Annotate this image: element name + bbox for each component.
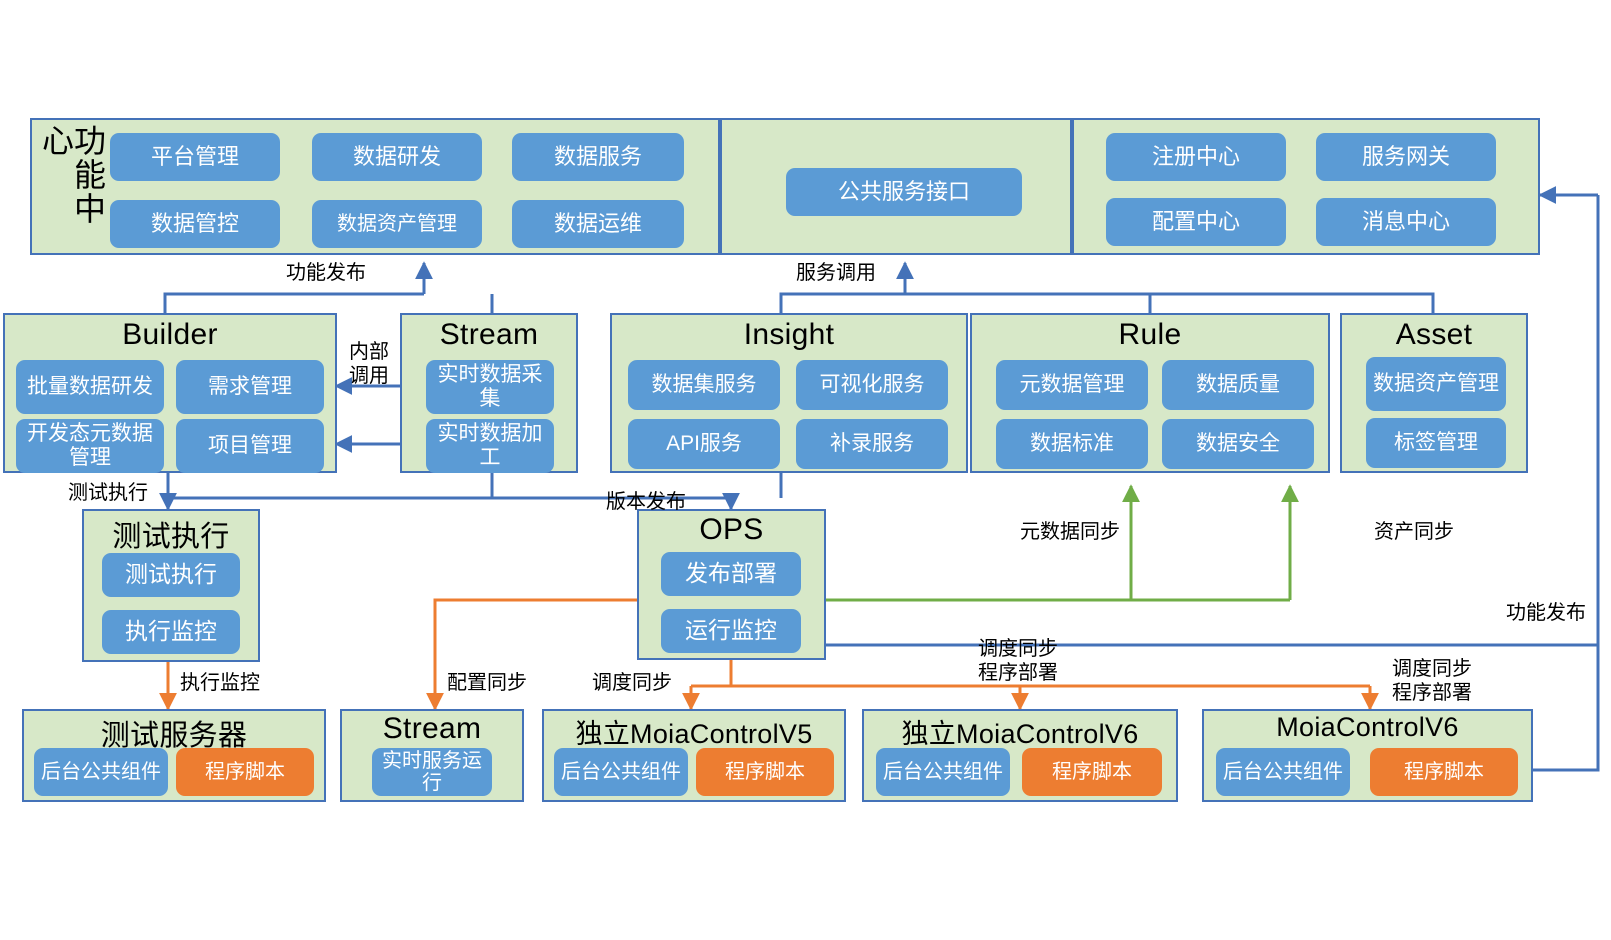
chip-data-security[interactable]: 数据安全 xyxy=(1162,419,1314,469)
panel-asset-title: Asset xyxy=(1340,318,1528,352)
chip-data-development[interactable]: 数据研发 xyxy=(312,133,482,181)
chip-test-server-program-script[interactable]: 程序脚本 xyxy=(176,748,314,796)
chip-supplement-service[interactable]: 补录服务 xyxy=(796,419,948,469)
chip-v6s-backend-components[interactable]: 后台公共组件 xyxy=(876,748,1010,796)
edge-label-version-publish: 版本发布 xyxy=(606,491,686,515)
chip-api-service[interactable]: API服务 xyxy=(628,419,780,469)
chip-data-service[interactable]: 数据服务 xyxy=(512,133,684,181)
chip-execution-monitoring[interactable]: 执行监控 xyxy=(102,610,240,654)
chip-v6s-program-script[interactable]: 程序脚本 xyxy=(1022,748,1162,796)
chip-batch-data-development[interactable]: 批量数据研发 xyxy=(16,360,164,414)
chip-project-management[interactable]: 项目管理 xyxy=(176,419,324,473)
chip-data-quality[interactable]: 数据质量 xyxy=(1162,360,1314,410)
edge-label-feature-publish-right: 功能发布 xyxy=(1400,602,1586,626)
chip-v5-program-script[interactable]: 程序脚本 xyxy=(696,748,834,796)
panel-insight-title: Insight xyxy=(610,318,968,352)
chip-data-standard[interactable]: 数据标准 xyxy=(996,419,1148,469)
chip-config-center[interactable]: 配置中心 xyxy=(1106,198,1286,246)
edge-label-feature-publish-top: 功能发布 xyxy=(286,262,366,286)
edge-label-exec-monitor: 执行监控 xyxy=(180,672,260,696)
panel-test-execution-title: 测试执行 xyxy=(82,513,260,555)
panel-ops-title: OPS xyxy=(637,513,826,547)
panel-standalone-moiacontrolv6-title: 独立MoiaControlV6 xyxy=(862,712,1178,751)
edge-label-asset-sync: 资产同步 xyxy=(1374,521,1454,545)
chip-message-center[interactable]: 消息中心 xyxy=(1316,198,1496,246)
chip-tag-management[interactable]: 标签管理 xyxy=(1366,418,1506,468)
edge-label-config-sync: 配置同步 xyxy=(447,672,527,696)
edge-label-schedule-sync-deploy-1: 调度同步 程序部署 xyxy=(938,638,1098,685)
chip-dataset-service[interactable]: 数据集服务 xyxy=(628,360,780,410)
panel-standalone-moiacontrolv5-title: 独立MoiaControlV5 xyxy=(542,712,846,751)
chip-dev-metadata-management[interactable]: 开发态元数据管理 xyxy=(16,419,164,473)
chip-metadata-management[interactable]: 元数据管理 xyxy=(996,360,1148,410)
chip-data-operations[interactable]: 数据运维 xyxy=(512,200,684,248)
chip-realtime-data-collection[interactable]: 实时数据采集 xyxy=(426,360,554,414)
chip-platform-management[interactable]: 平台管理 xyxy=(110,133,280,181)
edge-label-schedule-sync-deploy-2: 调度同步 程序部署 xyxy=(1352,658,1512,705)
chip-test-server-backend-components[interactable]: 后台公共组件 xyxy=(34,748,168,796)
function-center-side-label: 功能中心 xyxy=(40,124,104,250)
chip-realtime-service-running[interactable]: 实时服务运行 xyxy=(372,748,492,796)
edge-label-test-execution: 测试执行 xyxy=(68,482,148,506)
chip-test-execution[interactable]: 测试执行 xyxy=(102,553,240,597)
panel-rule-title: Rule xyxy=(970,318,1330,352)
chip-runtime-monitoring[interactable]: 运行监控 xyxy=(661,609,801,653)
chip-release-deploy[interactable]: 发布部署 xyxy=(661,552,801,596)
panel-moiacontrolv6-title: MoiaControlV6 xyxy=(1202,712,1533,743)
architecture-diagram-canvas: 功能中心 平台管理 数据研发 数据服务 数据管控 数据资产管理 数据运维 公共服… xyxy=(0,0,1611,940)
panel-stream-runtime-title: Stream xyxy=(340,712,524,746)
edge-label-service-call: 服务调用 xyxy=(796,262,876,286)
chip-service-gateway[interactable]: 服务网关 xyxy=(1316,133,1496,181)
edge-label-schedule-sync: 调度同步 xyxy=(592,672,672,696)
chip-registry-center[interactable]: 注册中心 xyxy=(1106,133,1286,181)
chip-requirement-management[interactable]: 需求管理 xyxy=(176,360,324,414)
chip-v6-backend-components[interactable]: 后台公共组件 xyxy=(1216,748,1350,796)
chip-realtime-data-processing[interactable]: 实时数据加工 xyxy=(426,419,554,473)
chip-data-asset-management[interactable]: 数据资产管理 xyxy=(312,200,482,248)
chip-v6-program-script[interactable]: 程序脚本 xyxy=(1370,748,1518,796)
panel-stream-title: Stream xyxy=(400,318,578,352)
panel-builder-title: Builder xyxy=(3,318,337,352)
chip-public-service-interface[interactable]: 公共服务接口 xyxy=(786,168,1022,216)
chip-visualization-service[interactable]: 可视化服务 xyxy=(796,360,948,410)
edge-label-metadata-sync: 元数据同步 xyxy=(1020,521,1120,545)
chip-asset-data-asset-management[interactable]: 数据资产管理 xyxy=(1366,357,1506,411)
chip-data-governance[interactable]: 数据管控 xyxy=(110,200,280,248)
chip-v5-backend-components[interactable]: 后台公共组件 xyxy=(554,748,688,796)
edge-label-internal-call: 内部 调用 xyxy=(341,341,397,388)
